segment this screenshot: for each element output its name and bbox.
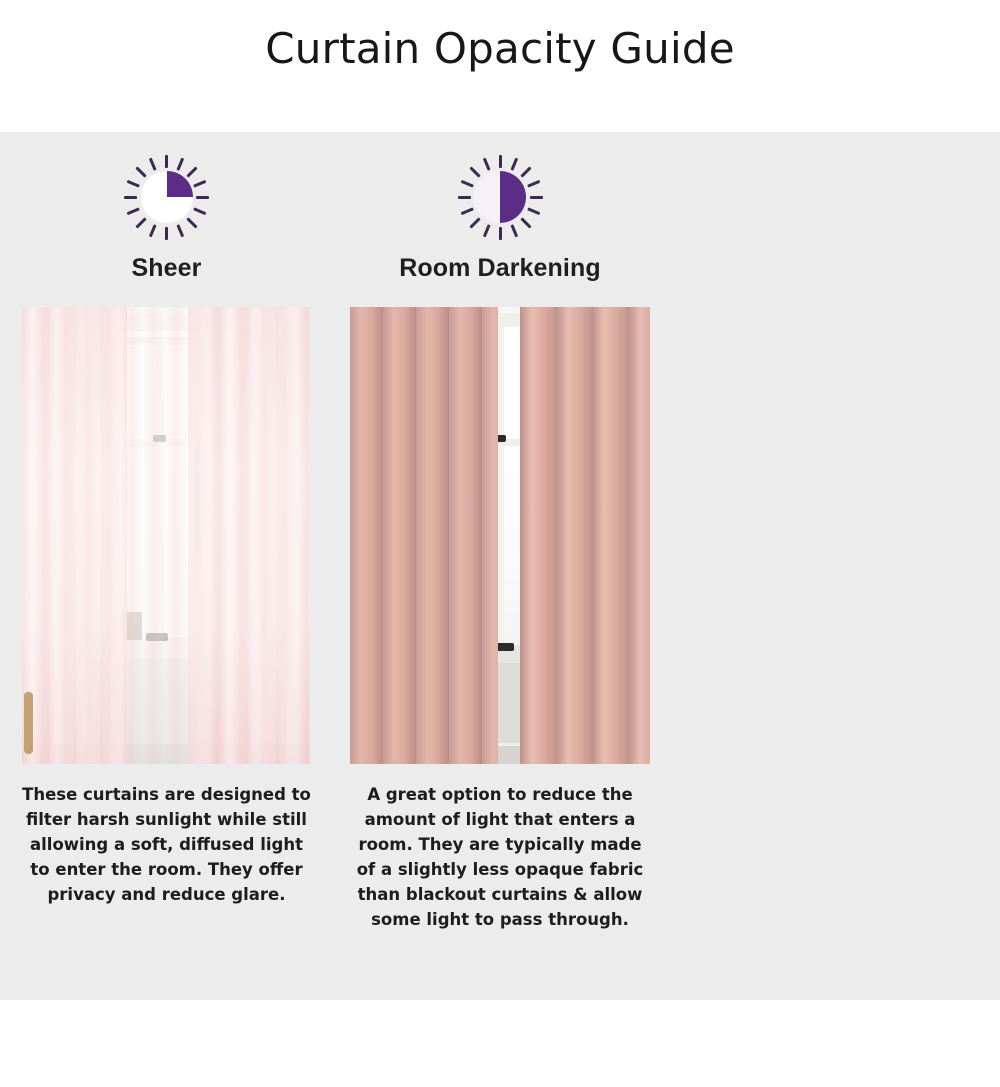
column-room-darkening[interactable]: Room Darkening A great option to reduce … — [333, 132, 667, 1000]
sun-quarter-filled-icon-wrap — [0, 142, 333, 252]
column-blackout[interactable]: Blackout — [667, 132, 1000, 1000]
photo-room-darkening — [350, 307, 650, 764]
sun-half-filled-icon-wrap — [333, 142, 667, 252]
description-room-darkening: A great option to reduce the amount of l… — [333, 782, 667, 932]
sun-fill-quarter — [141, 171, 193, 223]
description-sheer: These curtains are designed to filter ha… — [0, 782, 333, 907]
comparison-board: Sheer These curta — [0, 132, 1000, 1000]
page-title: Curtain Opacity Guide — [0, 24, 1000, 73]
sun-quarter-filled-icon — [119, 149, 215, 245]
sun-fill-half — [474, 171, 526, 223]
sun-half-filled-icon — [452, 149, 548, 245]
category-label-room-darkening: Room Darkening — [333, 254, 667, 283]
sun-disc — [141, 171, 193, 223]
sun-disc — [474, 171, 526, 223]
column-sheer[interactable]: Sheer These curta — [0, 132, 333, 1000]
category-label-sheer: Sheer — [0, 254, 333, 283]
photo-sheer — [22, 307, 310, 764]
